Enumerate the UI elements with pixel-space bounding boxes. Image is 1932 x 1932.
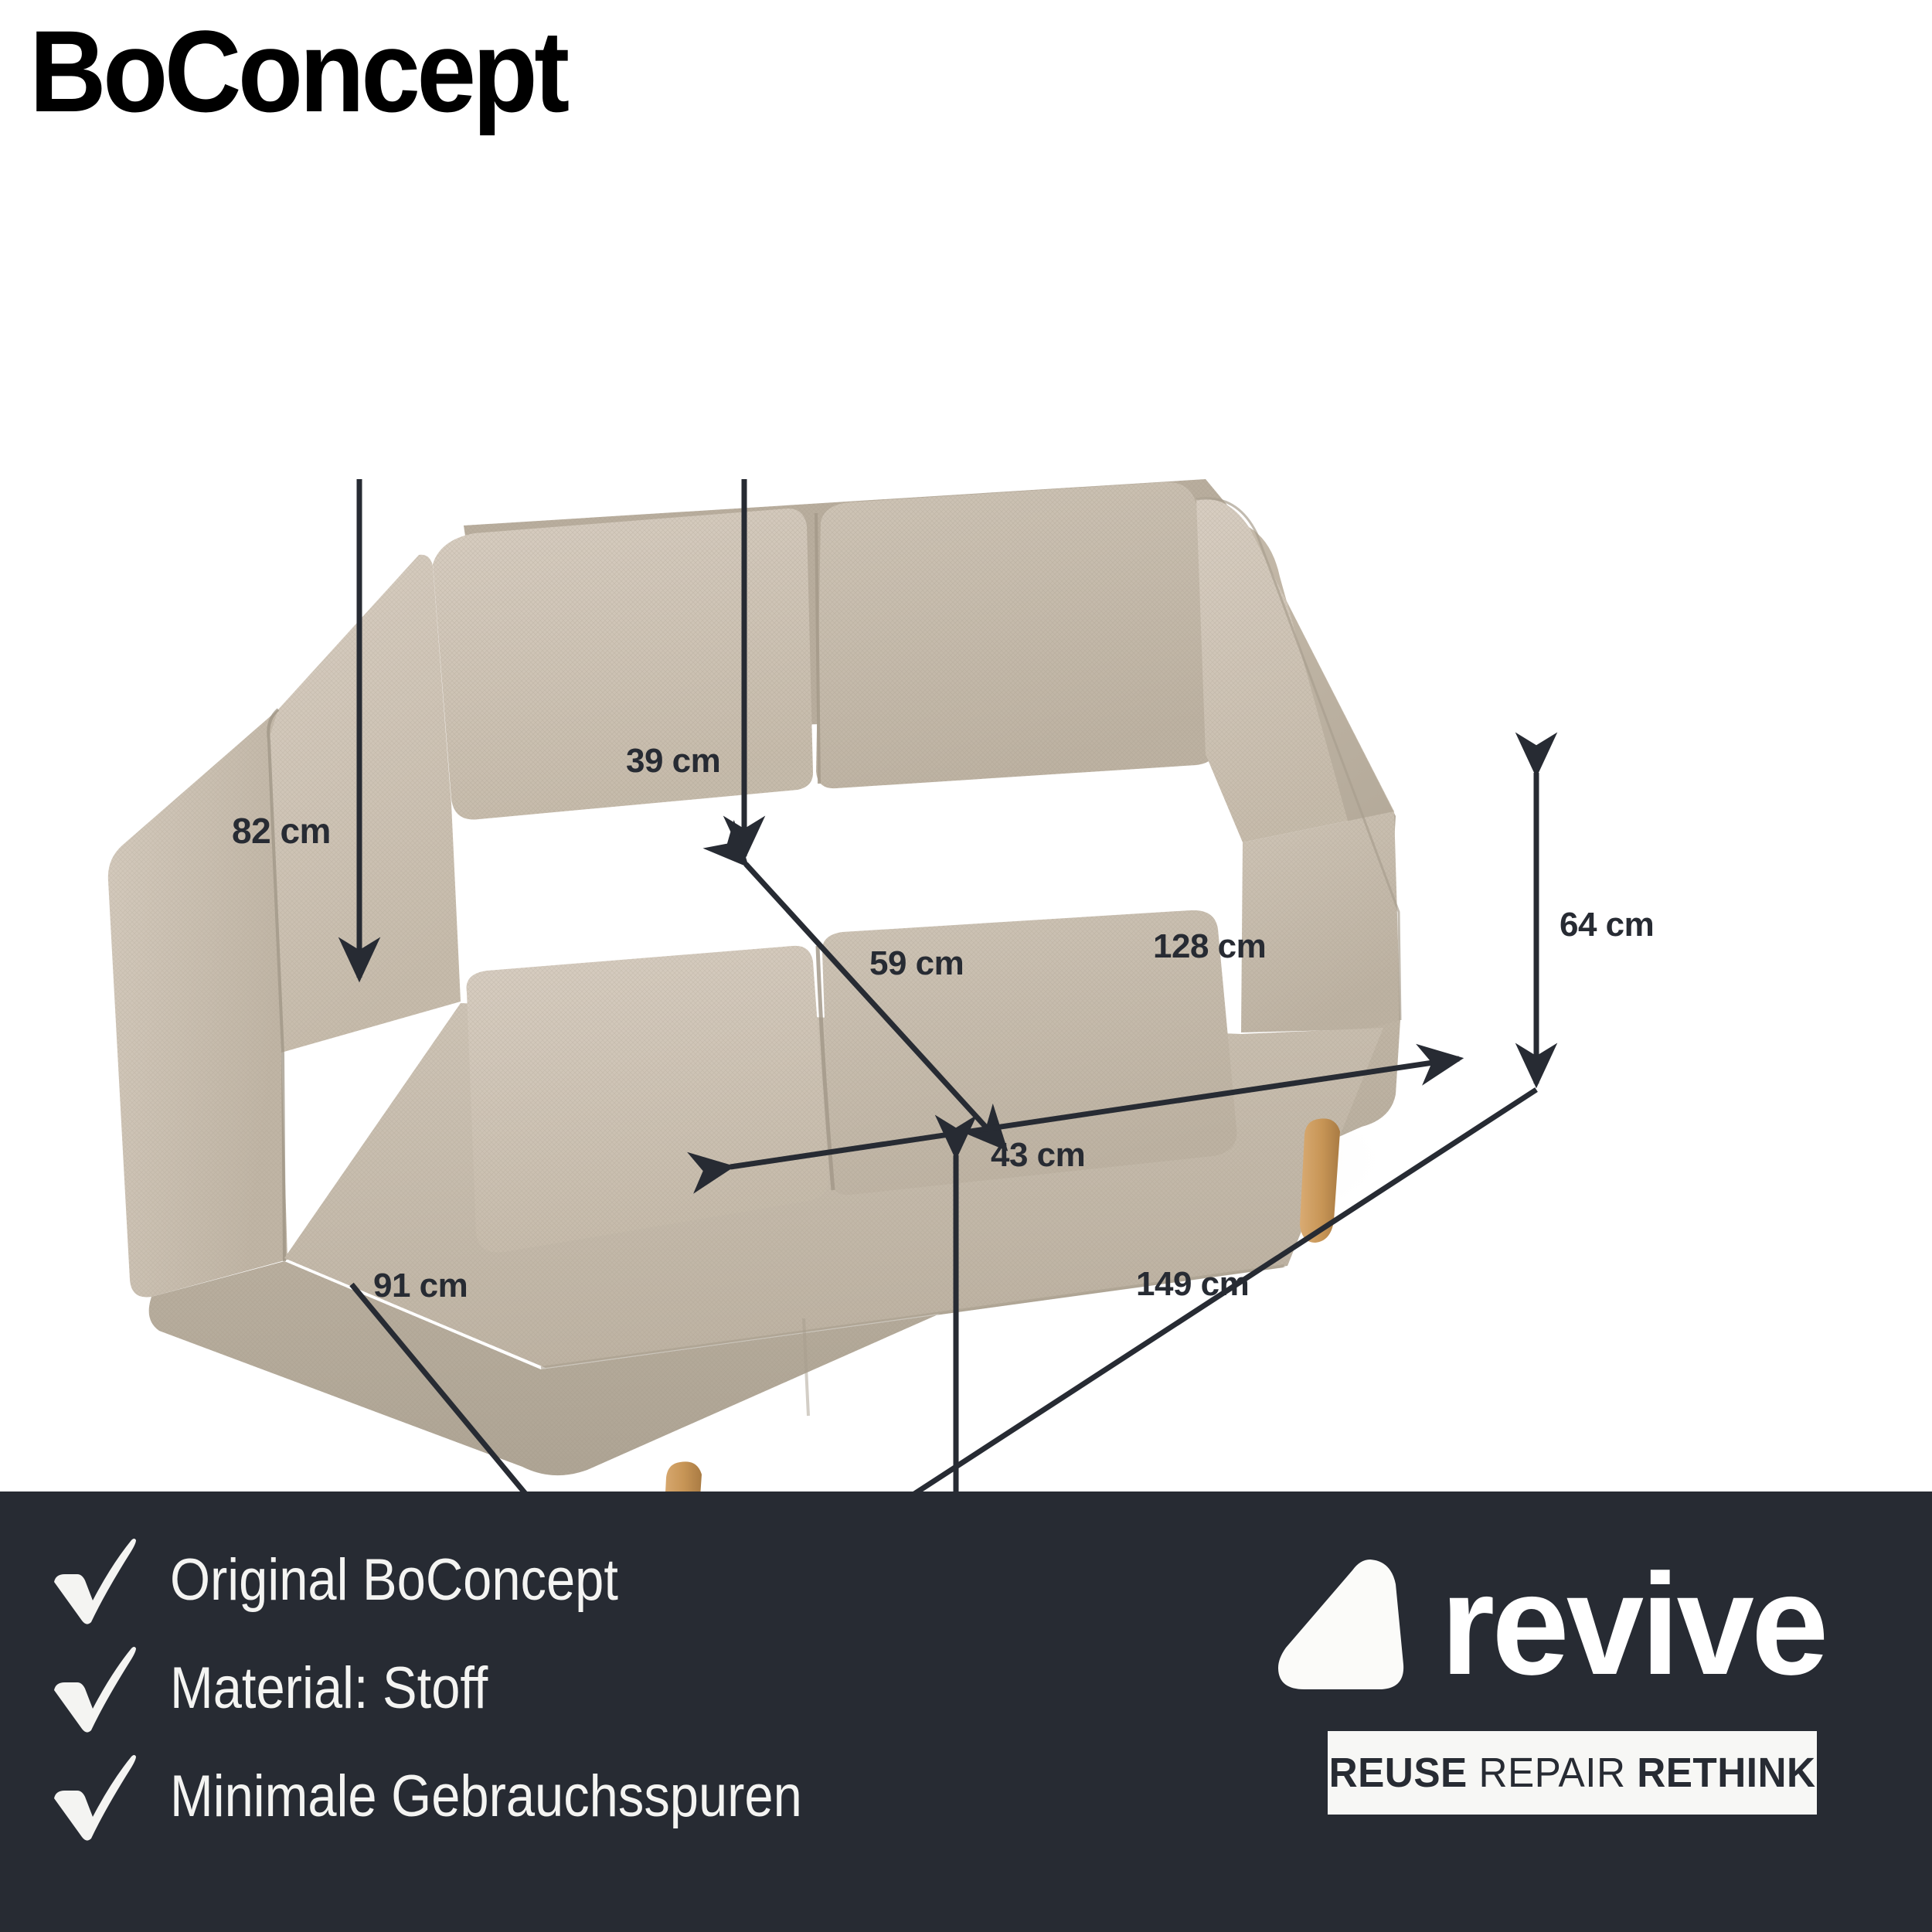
list-item-label: Original BoConcept: [170, 1546, 618, 1614]
list-item-label: Material: Stoff: [170, 1655, 488, 1722]
footer-bar: Original BoConcept Material: Stoff Minim…: [0, 1492, 1932, 1932]
list-item: Material: Stoff: [46, 1634, 1167, 1742]
dimension-label-height: 82 cm: [232, 810, 331, 852]
sofa-leg-front: [662, 1461, 702, 1492]
dimension-label-seat-height: 43 cm: [991, 1136, 1085, 1175]
dimension-label-width: 149 cm: [1136, 1265, 1249, 1304]
dimension-label-back-height: 39 cm: [626, 742, 720, 781]
check-icon: [46, 1642, 138, 1733]
tagline-word-reuse: REUSE: [1329, 1750, 1468, 1796]
revive-tagline-box: REUSE REPAIR RETHINK: [1328, 1731, 1817, 1815]
revive-logo-lockup: revive REUSE REPAIR RETHINK: [1267, 1552, 1886, 1815]
dimension-label-arm-height: 64 cm: [1560, 906, 1654, 944]
tagline-word-repair: REPAIR: [1478, 1750, 1625, 1796]
revive-leaf-icon: [1267, 1552, 1414, 1699]
dimension-label-seat-depth: 59 cm: [869, 944, 964, 983]
tagline-word-rethink: RETHINK: [1637, 1750, 1815, 1796]
revive-tagline: REUSE REPAIR RETHINK: [1329, 1749, 1816, 1797]
list-item: Original BoConcept: [46, 1526, 1167, 1634]
revive-wordmark: revive: [1440, 1560, 1825, 1691]
list-item: Minimale Gebrauchsspuren: [46, 1742, 1167, 1850]
product-listing-page: BoConcept: [0, 0, 1932, 1932]
list-item-label: Minimale Gebrauchsspuren: [170, 1763, 802, 1830]
sofa-illustration: [0, 479, 1932, 1492]
product-image-stage: [0, 479, 1932, 1492]
feature-checklist: Original BoConcept Material: Stoff Minim…: [46, 1526, 1167, 1850]
dimension-label-depth: 91 cm: [373, 1267, 468, 1305]
brand-logo: BoConcept: [29, 11, 566, 133]
dimension-label-seat-width: 128 cm: [1153, 927, 1266, 966]
check-icon: [46, 1750, 138, 1842]
check-icon: [46, 1534, 138, 1625]
